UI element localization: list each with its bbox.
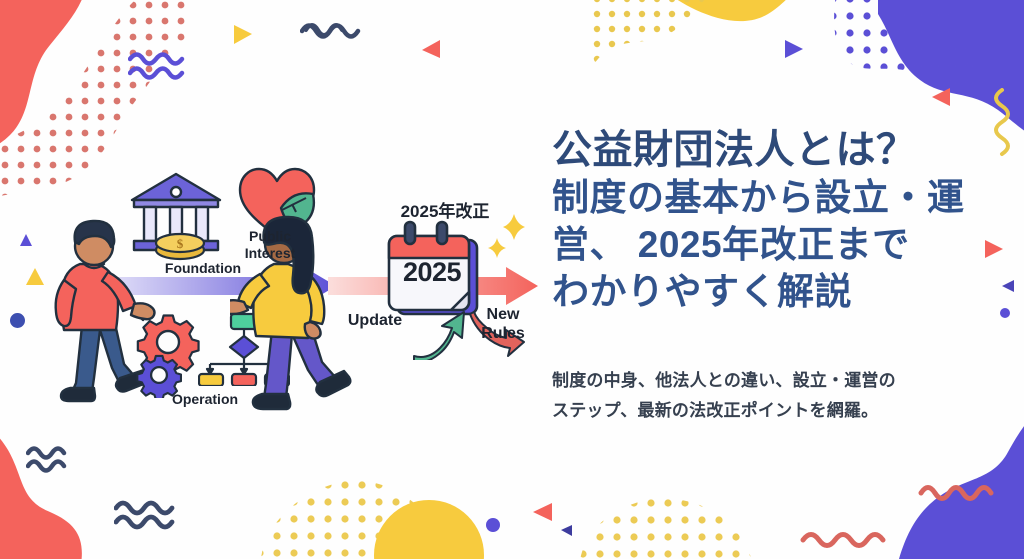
purple-dot-bottom (486, 518, 500, 532)
label-operation: Operation (150, 391, 260, 407)
purple-triangle-bottom (558, 522, 574, 538)
navy-wave-bottom-left (26, 444, 82, 474)
purple-triangle-mid-right (1000, 278, 1016, 294)
banner-canvas: $ (0, 0, 1024, 559)
purple-dot-cluster-top-right (828, 0, 988, 104)
coral-blob-bottom-left (0, 400, 170, 559)
page-title: 公益財団法人とは？ 制度の基本から設立・運 営、 2025年改正まで わかりやす… (552, 126, 972, 315)
coral-triangle-bottom (530, 500, 554, 524)
navy-wave-top-far-right (304, 20, 344, 38)
coral-squiggle-bottom-right-2 (800, 528, 900, 550)
purple-dot-left (10, 313, 25, 328)
label-new-rules: New Rules (472, 305, 534, 343)
yellow-triangle-top-left (232, 24, 254, 46)
label-new-rules-line2: Rules (472, 324, 534, 343)
calendar-year-label: 2025 (392, 257, 472, 288)
purple-wave-top-left (128, 50, 202, 82)
label-public-interest-line1: Public (228, 228, 312, 245)
yellow-circle-bottom (374, 500, 484, 559)
concept-illustration: $ (40, 160, 540, 420)
title-line-2: 制度の基本から設立・運 (552, 174, 972, 221)
label-public-interest: Public Interest (228, 228, 312, 262)
label-public-interest-line2: Interest (228, 245, 312, 262)
purple-triangle-top-right (783, 38, 805, 60)
coral-triangle-right (930, 86, 952, 108)
coral-triangle-top-center (420, 38, 442, 60)
coin-icon: $ (152, 226, 208, 262)
label-revision-2025: 2025年改正 (380, 197, 510, 222)
curved-arrow-up-icon (412, 310, 470, 360)
yellow-dot-cluster-bottom-right (578, 498, 758, 559)
coral-squiggle-bottom-right (918, 480, 1008, 502)
coral-triangle-mid-right (983, 238, 1005, 260)
label-update: Update (340, 312, 410, 330)
yellow-dot-cluster-top-right (592, 0, 712, 74)
title-line-4: わかりやすく解説 (552, 268, 972, 315)
page-subtitle: 制度の中身、他法人との違い、設立・運営の ステップ、最新の法改正ポイントを網羅。 (552, 366, 962, 426)
yellow-squiggle-right (988, 88, 1010, 160)
purple-triangle-left (18, 232, 34, 248)
title-line-1: 公益財団法人とは？ (552, 126, 972, 174)
yellow-dot-cluster-bottom (255, 480, 455, 559)
subtitle-line-2: ステップ、最新の法改正ポイントを網羅。 (552, 396, 962, 426)
svg-text:$: $ (177, 236, 184, 251)
navy-wave-bottom-center-left (114, 498, 204, 530)
yellow-blob-top-right (618, 0, 828, 62)
title-line-3: 営、 2025年改正まで (552, 221, 972, 268)
label-foundation: Foundation (148, 260, 258, 276)
purple-dot-mid-right (1000, 308, 1010, 318)
label-new-rules-line1: New (472, 305, 534, 324)
navy-wave-top-center (300, 20, 376, 40)
subtitle-line-1: 制度の中身、他法人との違い、設立・運営の (552, 366, 962, 396)
